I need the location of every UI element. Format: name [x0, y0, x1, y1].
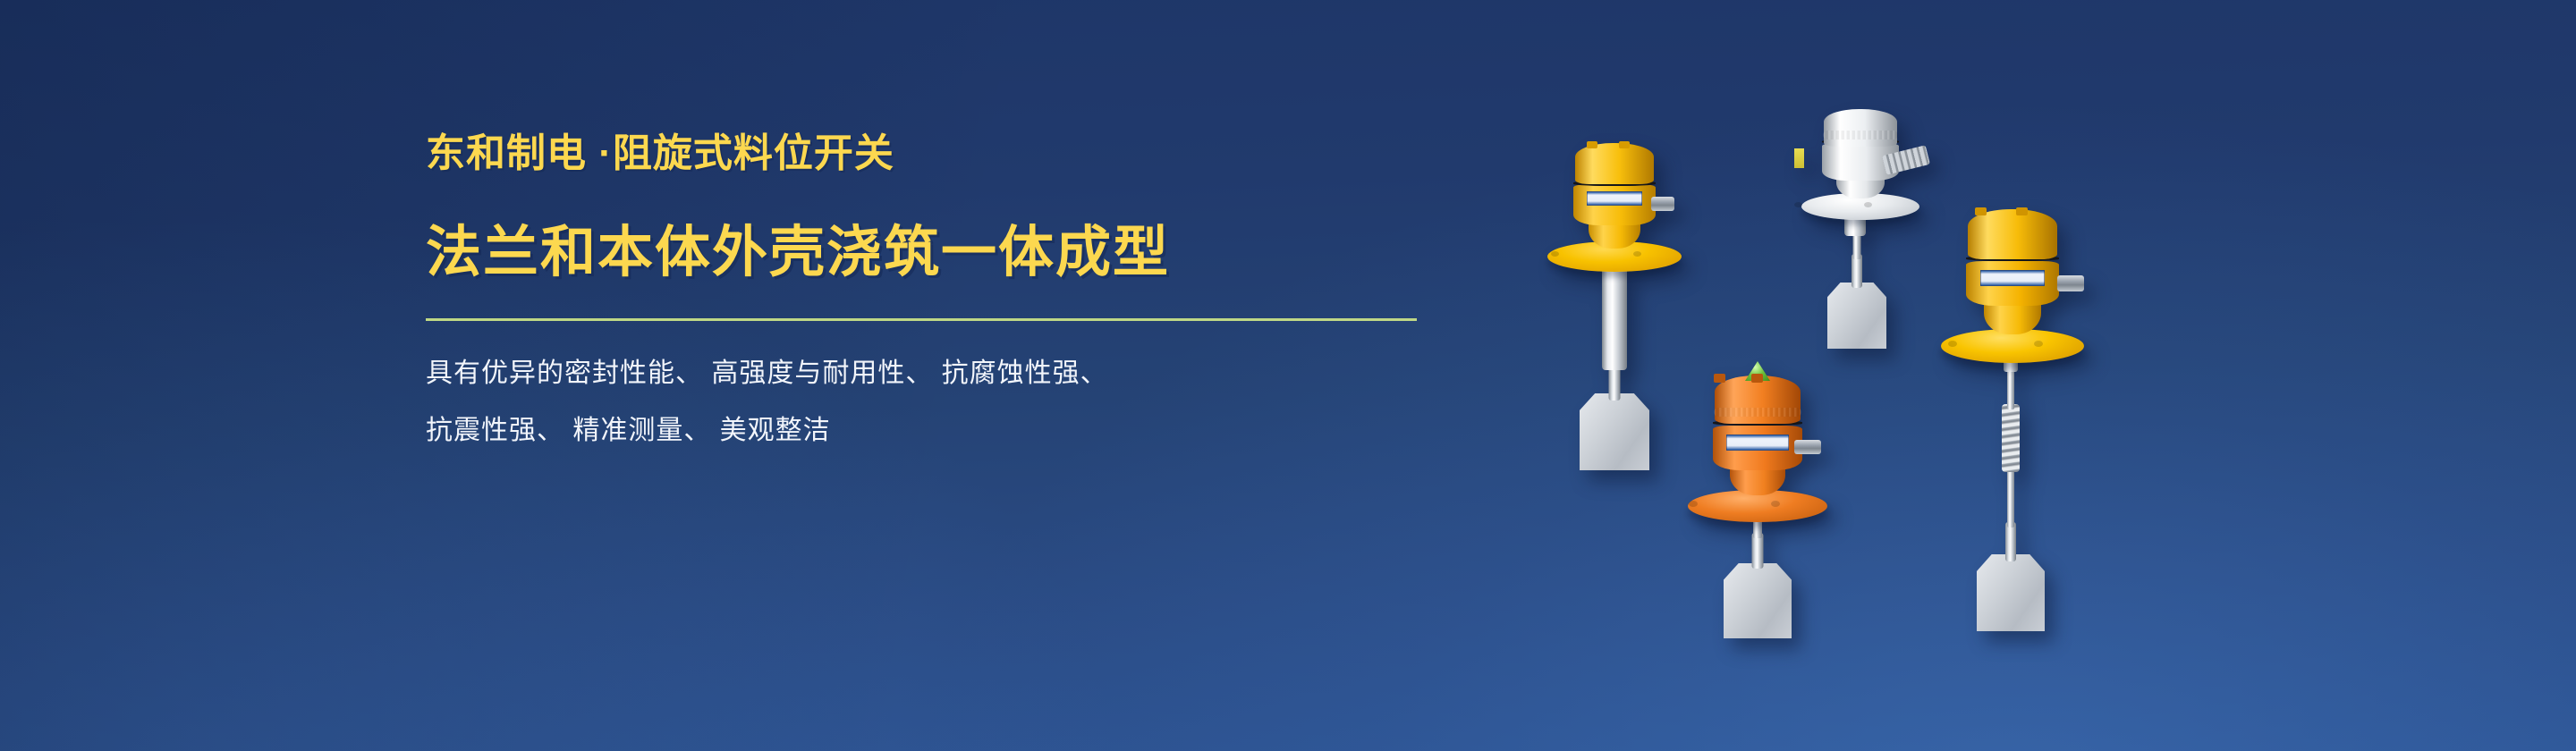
promo-banner: 东和制电 ·阻旋式料位开关 法兰和本体外壳浇筑一体成型 具有优异的密封性能、 高… — [0, 0, 2576, 751]
paddle-blade — [1580, 393, 1649, 470]
housing-cap — [1968, 209, 2057, 259]
product-nameplate — [1726, 435, 1789, 451]
banner-eyebrow: 东和制电 ·阻旋式料位开关 — [426, 134, 1499, 173]
housing-cap — [1575, 143, 1654, 184]
extension-tube — [1602, 256, 1627, 370]
product-image-group — [1503, 107, 2129, 644]
feature-line: 具有优异的密封性能、 高强度与耐用性、 抗腐蚀性强、 — [426, 360, 1499, 387]
conduit-entry — [1651, 197, 1674, 211]
paddle-blade — [1977, 554, 2045, 631]
cap-notch — [1714, 374, 1725, 383]
cap-notch — [1751, 374, 1763, 383]
housing-sticker — [1794, 148, 1804, 168]
flange-bolt — [2034, 341, 2043, 347]
conduit-entry — [2057, 275, 2084, 291]
cap-notch — [1619, 141, 1630, 148]
banner-feature-list: 具有优异的密封性能、 高强度与耐用性、 抗腐蚀性强、 抗震性强、 精准测量、 美… — [426, 360, 1499, 444]
drive-shaft-upper — [2007, 367, 2014, 409]
flange-bolt — [1689, 501, 1698, 507]
drive-shaft — [2007, 467, 2014, 527]
feature-line: 抗震性强、 精准测量、 美观整洁 — [426, 418, 1499, 444]
flange-bolt — [1864, 202, 1872, 207]
shaft-coupler — [2005, 522, 2016, 561]
product-nameplate — [1980, 270, 2045, 286]
product-nameplate — [1587, 191, 1642, 206]
banner-headline: 法兰和本体外壳浇筑一体成型 — [426, 225, 1499, 281]
housing-cap — [1824, 109, 1897, 147]
headline-divider — [426, 318, 1417, 321]
cap-ribbing — [1714, 408, 1801, 417]
spring-shaft-section — [2002, 404, 2020, 472]
flange-bolt — [1551, 251, 1559, 257]
cap-notch — [2016, 207, 2028, 215]
cap-notch — [1975, 207, 1987, 215]
flange-bolt — [1948, 341, 1957, 347]
product-orange-led — [1664, 340, 1851, 662]
flange-bolt — [1633, 251, 1641, 257]
flange-bolt — [1771, 501, 1780, 507]
banner-copy: 东和制电 ·阻旋式料位开关 法兰和本体外壳浇筑一体成型 具有优异的密封性能、 高… — [426, 134, 1499, 444]
cap-notch — [1587, 141, 1597, 148]
conduit-entry — [1794, 440, 1821, 454]
paddle-blade — [1724, 563, 1792, 638]
shaft-coupler — [1752, 533, 1764, 569]
product-yellow-spring-shaft — [1923, 179, 2102, 644]
flange-bolt — [1794, 202, 1802, 207]
paddle-blade — [1827, 283, 1886, 349]
cap-ribbing — [1823, 131, 1898, 139]
